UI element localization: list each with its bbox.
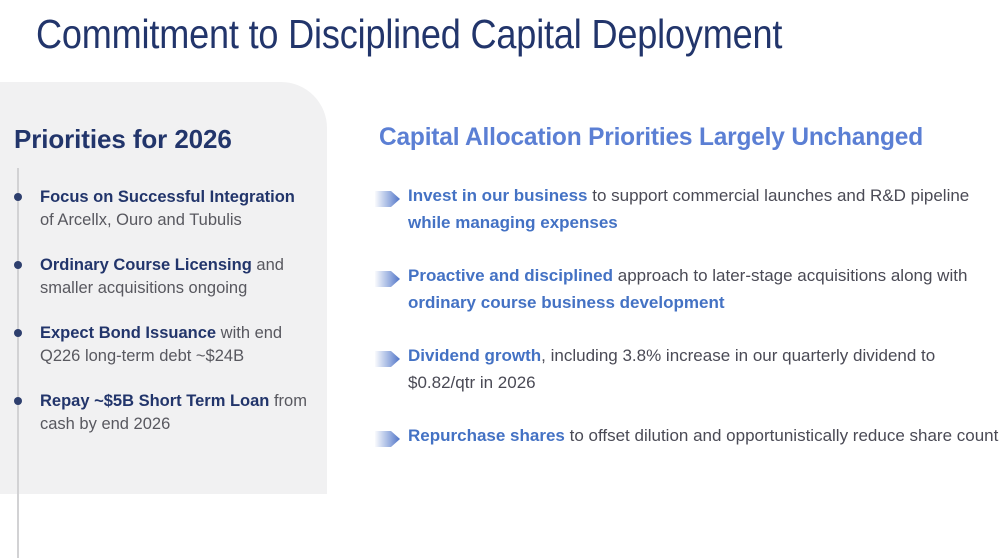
priorities-panel: Priorities for 2026 Focus on Successful … [0, 82, 327, 494]
bullet-dot-icon [14, 193, 22, 201]
list-item: Repurchase shares to offset dilution and… [375, 422, 999, 449]
list-item: Expect Bond Issuance with end Q226 long-… [0, 322, 327, 368]
list-item-lead: Proactive and disciplined [408, 266, 613, 285]
list-item-lead: Dividend growth [408, 346, 541, 365]
list-item: Ordinary Course Licensing and smaller ac… [0, 254, 327, 300]
priorities-list: Focus on Successful Integration of Arcel… [0, 186, 327, 458]
list-item: Dividend growth, including 3.8% increase… [375, 342, 999, 396]
page-title: Commitment to Disciplined Capital Deploy… [36, 8, 863, 60]
list-item-text: approach to later-stage acquisitions alo… [613, 266, 967, 285]
list-item-emphasis: Focus on Successful Integration [40, 188, 295, 206]
list-item-text: to support commercial launches and R&D p… [588, 186, 970, 205]
bullet-dot-icon [14, 329, 22, 337]
capital-allocation-panel: Capital Allocation Priorities Largely Un… [375, 82, 999, 494]
capital-allocation-list: Invest in our business to support commer… [375, 182, 999, 475]
list-item-tail: while managing expenses [408, 213, 618, 232]
list-item: Repay ~$5B Short Term Loan from cash by … [0, 390, 327, 436]
bullet-dot-icon [14, 397, 22, 405]
list-item-emphasis: Repay ~$5B Short Term Loan [40, 392, 269, 410]
list-item: Focus on Successful Integration of Arcel… [0, 186, 327, 232]
list-item: Proactive and disciplined approach to la… [375, 262, 999, 316]
priorities-heading: Priorities for 2026 [14, 124, 232, 155]
list-item-emphasis: Expect Bond Issuance [40, 324, 216, 342]
arrow-bullet-icon [375, 188, 400, 204]
arrow-bullet-icon [375, 428, 400, 444]
arrow-bullet-icon [375, 348, 400, 364]
list-item-emphasis: Ordinary Course Licensing [40, 256, 252, 274]
list-item-text: to offset dilution and opportunistically… [565, 426, 998, 445]
list-item-lead: Invest in our business [408, 186, 588, 205]
list-item-text: of Arcellx, Ouro and Tubulis [40, 211, 242, 229]
list-item-lead: Repurchase shares [408, 426, 565, 445]
capital-allocation-heading: Capital Allocation Priorities Largely Un… [379, 123, 923, 152]
bullet-dot-icon [14, 261, 22, 269]
list-item-tail: ordinary course business development [408, 293, 724, 312]
arrow-bullet-icon [375, 268, 400, 284]
list-item: Invest in our business to support commer… [375, 182, 999, 236]
